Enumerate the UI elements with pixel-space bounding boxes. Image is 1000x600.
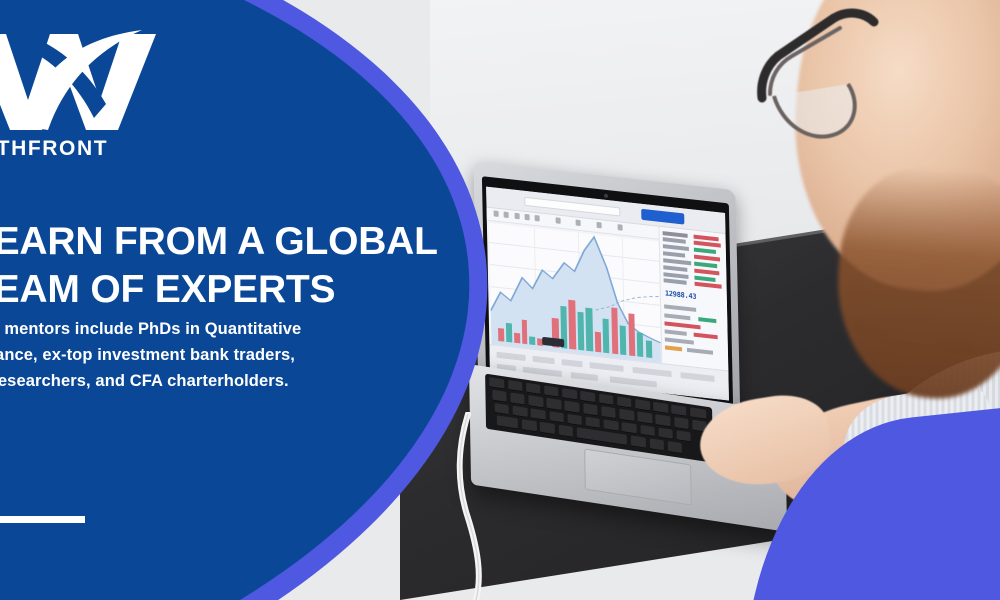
body-line-1: Our mentors include PhDs in Quantitative (0, 320, 301, 338)
body-line-3: AI researchers, and CFA charterholders. (0, 372, 289, 390)
body-line-2: Finance, ex-top investment bank traders, (0, 346, 295, 364)
page-title: LEARN FROM A GLOBAL TEAM OF EXPERTS (0, 218, 470, 314)
accent-rule (0, 516, 85, 523)
last-price-value: 12988.43 (665, 290, 696, 301)
order-book-panel: 12988.43 (659, 226, 729, 370)
hero-content: WEALTHFRONT LEARN FROM A GLOBAL TEAM OF … (0, 0, 470, 600)
hero-banner: 12988.43 (0, 0, 1000, 600)
webcam-icon (603, 194, 607, 198)
headline-line-1: LEARN FROM A GLOBAL (0, 220, 438, 263)
brand-wordmark: WEALTHFRONT (0, 137, 186, 161)
glasses-icon (756, 2, 936, 152)
wealthfront-w-swoosh-logo (0, 26, 186, 131)
headline-line-2: TEAM OF EXPERTS (0, 268, 335, 311)
hero-body-text: Our mentors include PhDs in Quantitative… (0, 316, 422, 394)
laptop-screen: 12988.43 (486, 187, 729, 401)
brand-logo[interactable]: WEALTHFRONT (0, 26, 186, 161)
price-chart (489, 222, 661, 363)
volume-bars (489, 222, 661, 363)
